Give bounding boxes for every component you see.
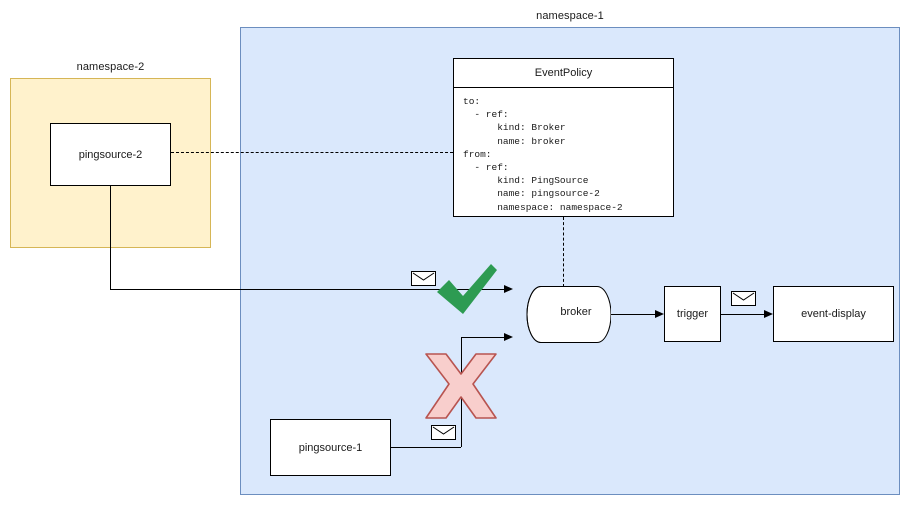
edge-pingsource1-arrowhead [504,333,513,341]
envelope-icon [431,425,456,440]
envelope-icon [731,291,756,306]
edge-pingsource2-arrowhead [504,285,513,293]
edge-trigger-eventdisplay-arrowhead [764,310,773,318]
edge-policy-to-pingsource2 [171,152,453,153]
edge-broker-trigger-arrowhead [655,310,664,318]
edge-pingsource1-to-broker [461,337,510,338]
node-trigger[interactable]: trigger [664,286,721,342]
event-policy-title: EventPolicy [454,59,673,88]
edge-pingsource1-horizontal [391,447,461,448]
edge-broker-trigger [611,314,655,315]
check-mark-icon [433,262,501,323]
node-trigger-label: trigger [677,308,708,320]
diagram-canvas: namespace-1 namespace-2 pingsource-2 pin… [0,0,911,508]
edge-trigger-eventdisplay [721,314,765,315]
namespace-2-label: namespace-2 [10,61,211,73]
event-policy-spec: to: - ref: kind: Broker name: broker fro… [454,88,673,214]
event-policy-card[interactable]: EventPolicy to: - ref: kind: Broker name… [453,58,674,217]
node-pingsource-2[interactable]: pingsource-2 [50,123,171,186]
edge-pingsource2-vertical [110,186,111,289]
node-broker-label: broker [546,306,606,318]
node-pingsource-1[interactable]: pingsource-1 [270,419,391,476]
node-event-display-label: event-display [801,308,866,320]
cross-mark-icon [424,350,498,427]
edge-policy-to-broker [563,217,564,287]
namespace-1-label: namespace-1 [240,10,900,22]
node-event-display[interactable]: event-display [773,286,894,342]
node-pingsource-1-label: pingsource-1 [299,442,363,454]
node-pingsource-2-label: pingsource-2 [79,149,143,161]
